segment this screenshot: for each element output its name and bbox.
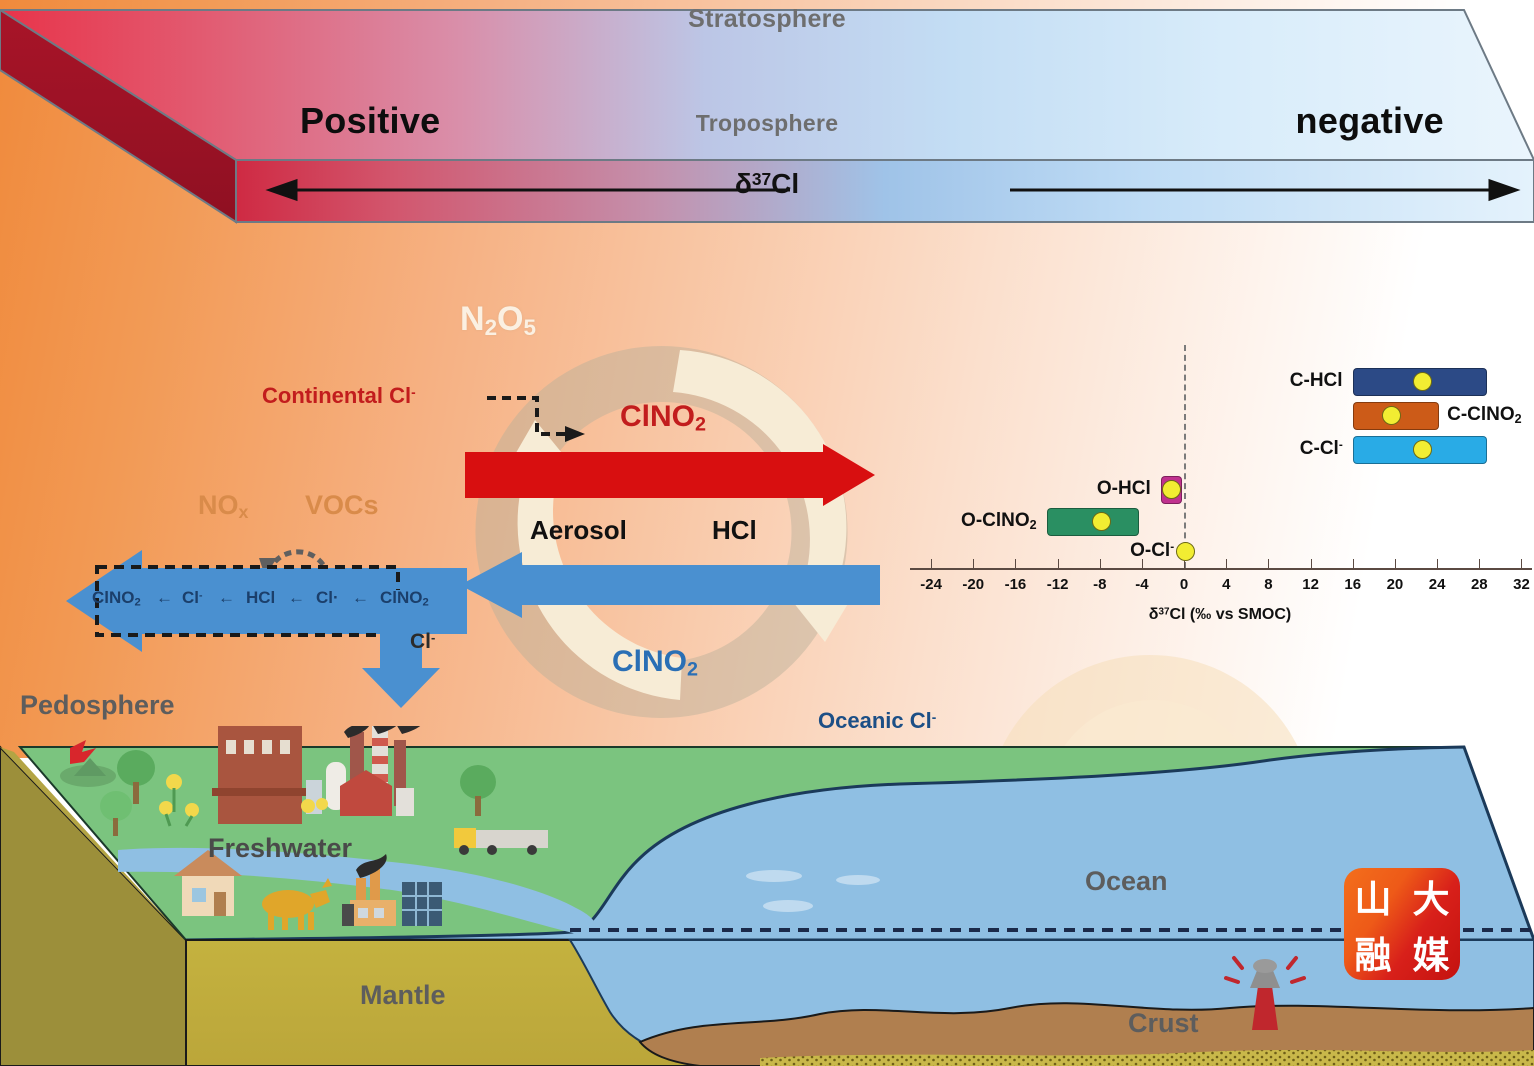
continental-cl-label: Continental Cl- [262,383,416,409]
chart-tick [1353,559,1354,568]
chart-median-dot [1176,542,1195,561]
chain-item-0: ClNO2 [92,588,141,608]
chart-tick-label: 16 [1344,576,1361,593]
chart-tick [931,559,932,568]
chart-tick-label: 32 [1513,576,1530,593]
chain-arrow-0: ← [156,588,173,608]
chart-series-label: O-HCl [1097,478,1151,500]
chart-series-label: C-Cl- [1300,438,1343,460]
chart-tick-label: 24 [1429,576,1446,593]
positive-label: Positive [300,100,440,142]
ocean-wave-marks [740,862,920,922]
chart-series-label: C-HCl [1290,370,1343,392]
chart-tick [1268,559,1269,568]
chart-tick-label: -8 [1093,576,1106,593]
chart-tick [973,559,974,568]
chart-tick [1100,559,1101,568]
chart-tick [1226,559,1227,568]
delta-cl37-inset-chart: -24-20-16-12-8-4048121620242832 C-HClC-C… [900,340,1534,640]
chain-item-2: HCl [246,588,275,608]
mantle-label: Mantle [360,980,446,1011]
watermark-logo: 山 大 融 媒 [1344,868,1460,980]
hcl-label: HCl [712,515,757,546]
ocean-label: Ocean [1085,866,1168,897]
n2o5-upper-label: N2O5 [460,300,536,341]
chart-series-label: O-Cl- [1130,540,1174,562]
cl-down-label: Cl- [410,630,435,654]
blue-clno2-label: ClNO2 [612,645,698,681]
chain-item-3: Cl· [316,588,339,608]
watermark-char-1: 大 [1413,869,1450,923]
chart-tick-label: 0 [1180,576,1188,593]
chain-arrow-3: ← [352,588,369,608]
chart-tick-label: -12 [1047,576,1069,593]
hydrothermal-vent-icon [1222,950,1308,1032]
chain-arrow-2: ← [288,588,305,608]
delta-cl37-banner-label: δ37Cl [0,168,1534,200]
red-clno2-label: ClNO2 [620,400,706,436]
chart-tick-label: -16 [1005,576,1027,593]
chart-zero-line [1184,345,1186,568]
watermark-char-0: 山 [1355,869,1392,923]
aerosol-label: Aerosol [530,515,627,546]
chart-tick-label: 12 [1302,576,1319,593]
chart-series-label: C-ClNO2 [1447,404,1522,426]
nox-label: NOx [198,490,248,523]
stratosphere-label: Stratosphere [0,5,1534,34]
chart-series-label: O-ClNO2 [961,510,1037,532]
chart-tick-label: 28 [1471,576,1488,593]
chart-tick [1058,559,1059,568]
blue-clno2-arrow [460,550,880,620]
chart-tick-label: -20 [962,576,984,593]
watermark-char-3: 媒 [1413,925,1450,979]
chart-tick-label: -24 [920,576,942,593]
pedosphere-label: Pedosphere [20,690,175,721]
oceanic-cl-label: Oceanic Cl- [818,708,936,734]
chart-median-dot [1382,406,1401,425]
negative-label: negative [1296,100,1444,142]
dashed-step-arrow [485,392,595,450]
chart-tick-label: 8 [1264,576,1272,593]
chart-tick [1015,559,1016,568]
chart-tick-label: 20 [1387,576,1404,593]
chain-arrow-1: ← [218,588,235,608]
chart-x-axis [910,568,1532,570]
chain-item-4: ClNO2 [380,588,429,608]
watermark-char-2: 融 [1355,925,1392,979]
chart-median-dot [1092,512,1111,531]
chart-tick [1521,559,1522,568]
chart-x-axis-label: δ37Cl (‰ vs SMOC) [900,606,1534,624]
chart-tick-label: -4 [1135,576,1148,593]
freshwater-label: Freshwater [208,833,352,864]
chart-tick [1437,559,1438,568]
vocs-label: VOCs [305,490,379,521]
chart-tick [1479,559,1480,568]
chain-item-1: Cl- [182,588,203,608]
chart-tick [1395,559,1396,568]
crust-label: Crust [1128,1008,1199,1039]
red-clno2-arrow [465,444,875,506]
chart-tick [1311,559,1312,568]
figure-root: Stratosphere Troposphere Positive negati… [0,0,1534,1066]
chart-tick-label: 4 [1222,576,1230,593]
